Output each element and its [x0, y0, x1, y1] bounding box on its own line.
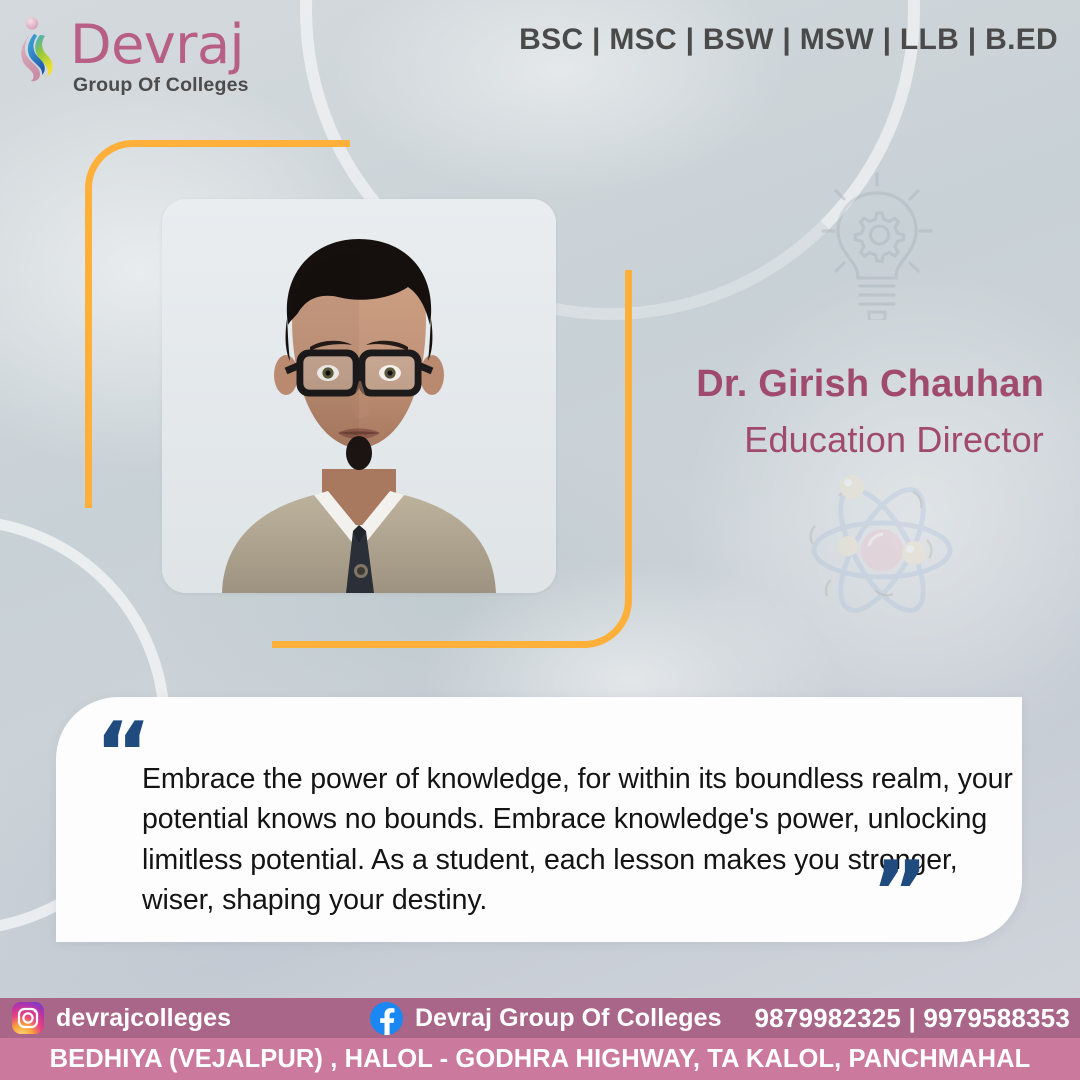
courses-list: BSC | MSC | BSW | MSW | LLB | B.ED: [519, 23, 1058, 57]
phone-numbers: 9879982325 | 9979588353: [754, 1003, 1070, 1034]
quote-card: “ Embrace the power of knowledge, for wi…: [56, 697, 1022, 942]
devraj-flame-logo-icon: [16, 14, 66, 86]
atom-icon: [795, 468, 970, 633]
brand-name: Devraj: [70, 18, 249, 72]
instagram-icon: [12, 1002, 44, 1034]
instagram-handle: devrajcolleges: [56, 1004, 231, 1033]
instagram-contact[interactable]: devrajcolleges: [12, 998, 231, 1038]
portrait-illustration: [162, 199, 556, 593]
person-info: Dr. Girish Chauhan Education Director: [696, 363, 1044, 462]
address-text: BEDHIYA (VEJALPUR) , HALOL - GODHRA HIGH…: [0, 1038, 1080, 1080]
facebook-icon: [370, 1002, 403, 1035]
footer-contact-bar: devrajcolleges Devraj Group Of Colleges …: [0, 998, 1080, 1038]
lightbulb-gear-icon: [820, 170, 935, 320]
brand-logo-text: Devraj Group Of Colleges: [70, 14, 249, 97]
header: Devraj Group Of Colleges BSC | MSC | BSW…: [0, 0, 1080, 100]
person-name: Dr. Girish Chauhan: [696, 363, 1044, 407]
brand-tagline: Group Of Colleges: [73, 74, 249, 97]
brand-logo[interactable]: Devraj Group Of Colleges: [16, 14, 249, 97]
poster-canvas: Devraj Group Of Colleges BSC | MSC | BSW…: [0, 0, 1080, 1080]
person-role: Education Director: [696, 417, 1044, 462]
person-photo: [162, 199, 556, 593]
phone-contact[interactable]: 9879982325 | 9979588353: [754, 998, 1070, 1038]
quote-close-icon: ”: [871, 850, 926, 936]
facebook-contact[interactable]: Devraj Group Of Colleges: [370, 998, 722, 1038]
facebook-page-name: Devraj Group Of Colleges: [415, 1004, 722, 1033]
